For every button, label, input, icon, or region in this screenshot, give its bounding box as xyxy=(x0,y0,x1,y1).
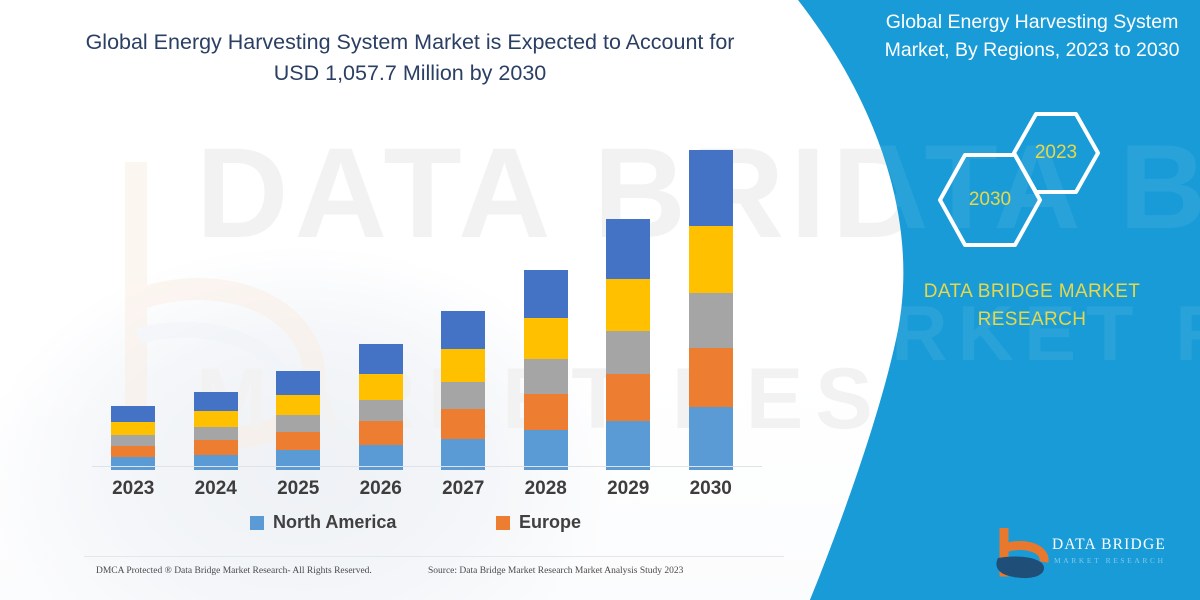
legend-swatch-icon xyxy=(250,516,264,530)
hexagon-badge-2023: 2023 xyxy=(1010,110,1102,196)
bar-segment xyxy=(524,270,568,318)
x-axis-label-2028: 2028 xyxy=(516,478,576,500)
bar-segment xyxy=(359,421,403,444)
legend-swatch-icon xyxy=(496,516,510,530)
legend-label: Europe xyxy=(519,512,581,533)
x-axis-label-2023: 2023 xyxy=(103,478,163,500)
bar-segment xyxy=(689,348,733,407)
bar-segment xyxy=(441,349,485,382)
bar-segment xyxy=(606,279,650,331)
logo-wordmark: DATA BRIDGE xyxy=(1052,536,1166,554)
bar-2030 xyxy=(689,150,733,470)
bar-segment xyxy=(606,331,650,374)
chart-baseline xyxy=(92,466,762,467)
footer-dmca-notice: DMCA Protected ® Data Bridge Market Rese… xyxy=(96,566,372,576)
bar-segment xyxy=(524,318,568,359)
bar-segment xyxy=(606,421,650,470)
legend-item-europe[interactable]: Europe xyxy=(496,512,581,533)
bar-2028 xyxy=(524,270,568,470)
legend-item-north-america[interactable]: North America xyxy=(250,512,396,533)
bar-segment xyxy=(359,400,403,422)
x-axis-label-2030: 2030 xyxy=(681,478,741,500)
bar-segment xyxy=(276,371,320,394)
bar-segment xyxy=(276,395,320,416)
bar-segment xyxy=(194,427,238,440)
bar-segment xyxy=(194,392,238,411)
bar-segment xyxy=(111,446,155,458)
bar-segment xyxy=(276,415,320,432)
bar-segment xyxy=(276,450,320,470)
bar-2024 xyxy=(194,392,238,470)
panel-title: Global Energy Harvesting System Market, … xyxy=(872,8,1192,64)
bar-segment xyxy=(359,374,403,400)
bar-segment xyxy=(441,409,485,439)
bar-segment xyxy=(194,455,238,470)
bar-segment xyxy=(194,440,238,454)
bar-segment xyxy=(359,344,403,374)
bar-segment xyxy=(689,293,733,348)
x-axis-label-2027: 2027 xyxy=(433,478,493,500)
bar-2027 xyxy=(441,311,485,470)
bar-segment xyxy=(111,435,155,446)
bar-segment xyxy=(524,359,568,393)
chart-legend: North AmericaEurope xyxy=(92,512,752,538)
bar-segment xyxy=(524,430,568,470)
bar-segment xyxy=(276,432,320,450)
hexagon-label-2023: 2023 xyxy=(1010,110,1102,196)
bar-segment xyxy=(441,311,485,349)
bar-2029 xyxy=(606,219,650,470)
bar-2026 xyxy=(359,344,403,470)
bar-segment xyxy=(441,382,485,409)
bar-segment xyxy=(689,407,733,470)
legend-label: North America xyxy=(273,512,396,533)
bar-segment xyxy=(194,411,238,427)
x-axis-label-2024: 2024 xyxy=(186,478,246,500)
bar-segment xyxy=(689,226,733,293)
x-axis-label-2026: 2026 xyxy=(351,478,411,500)
bar-segment xyxy=(689,150,733,226)
bar-segment xyxy=(606,219,650,278)
bar-segment xyxy=(606,374,650,421)
x-axis-label-2025: 2025 xyxy=(268,478,328,500)
stacked-bar-chart xyxy=(92,140,752,470)
footer-divider xyxy=(84,556,784,557)
logo-tagline: MARKET RESEARCH xyxy=(1054,556,1166,565)
x-axis-label-2029: 2029 xyxy=(598,478,658,500)
bar-segment xyxy=(111,422,155,435)
footer-source-note: Source: Data Bridge Market Research Mark… xyxy=(428,566,683,576)
brand-name: DATA BRIDGE MARKET RESEARCH xyxy=(872,278,1192,334)
infographic-canvas: DATA BRIDGE MARKET RESEARCH DATA BRIDGE … xyxy=(0,0,1200,600)
chart-x-axis-labels: 20232024202520262027202820292030 xyxy=(92,478,752,506)
page-title: Global Energy Harvesting System Market i… xyxy=(60,27,760,89)
bar-segment xyxy=(111,457,155,470)
bar-segment xyxy=(111,406,155,421)
bar-segment xyxy=(524,394,568,431)
bar-2023 xyxy=(111,406,155,470)
bar-2025 xyxy=(276,371,320,470)
